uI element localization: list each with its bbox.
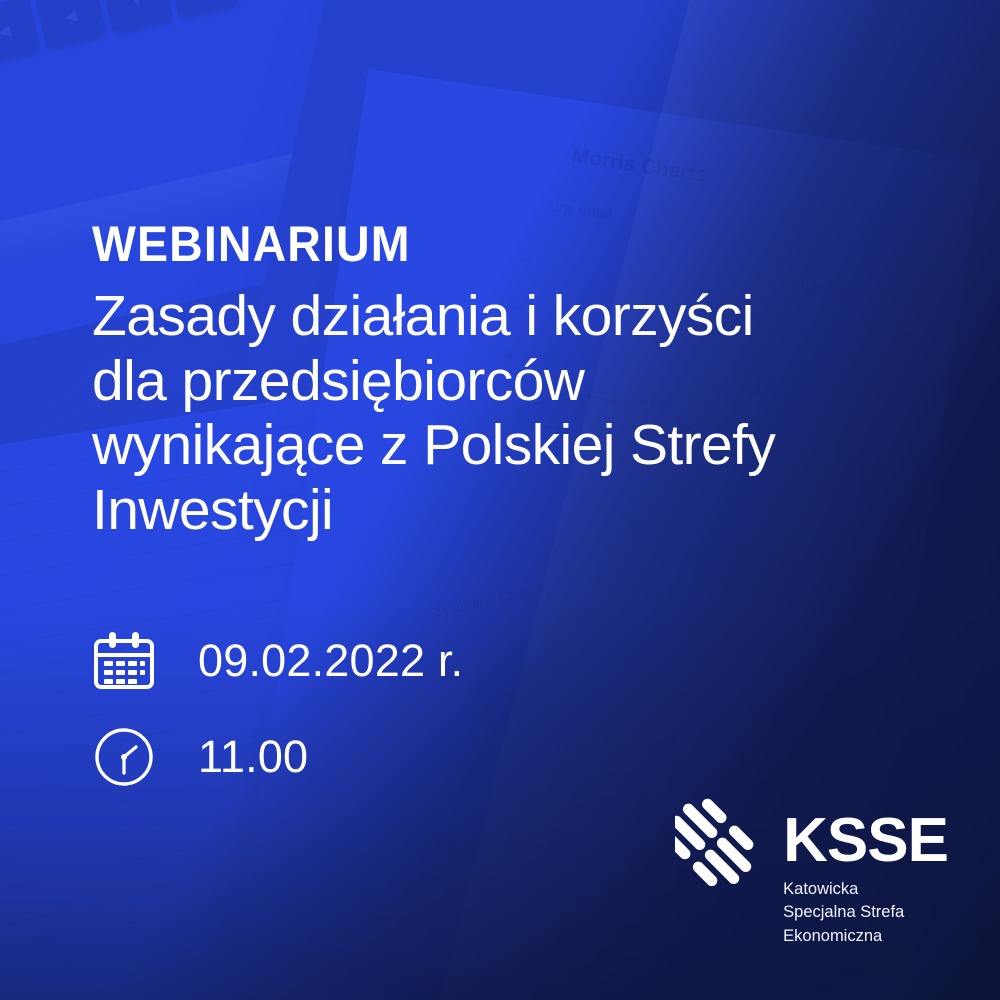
ksse-wordmark: KSSE	[783, 812, 948, 869]
calendar-icon	[92, 629, 170, 693]
event-time-value: 11.00	[198, 731, 308, 783]
webinar-poster: ◀ ▼ ▲ ▶ ◀ Morris Charts Line Chart 40 30…	[0, 0, 1000, 1000]
ksse-tagline-line-3: Ekonomiczna	[783, 925, 948, 948]
event-time-row: 11.00	[92, 716, 463, 798]
event-date-row: 09.02.2022 r.	[92, 620, 463, 702]
clock-icon	[92, 725, 170, 789]
event-date-value: 09.02.2022 r.	[198, 635, 463, 687]
headline-line-2: dla przedsiębiorców	[92, 349, 882, 414]
headline-line-4: Inwestycji	[92, 478, 882, 543]
ksse-tagline-line-1: Katowicka	[783, 878, 948, 901]
kicker-webinarium: WEBINARIUM	[92, 219, 411, 269]
page-title: Zasady działania i korzyści dla przedsię…	[92, 284, 882, 543]
ksse-logo: KSSE Katowicka Specjalna Strefa Ekonomic…	[675, 786, 948, 948]
ksse-logotype: KSSE Katowicka Specjalna Strefa Ekonomic…	[783, 786, 948, 948]
ksse-diagonal-bars-mark-icon	[675, 786, 767, 896]
event-meta: 09.02.2022 r. 11.00	[92, 620, 463, 798]
ksse-tagline: Katowicka Specjalna Strefa Ekonomiczna	[783, 878, 948, 948]
headline-line-1: Zasady działania i korzyści	[92, 284, 882, 349]
headline-line-3: wynikające z Polskiej Strefy	[92, 413, 882, 478]
poster-content: WEBINARIUM Zasady działania i korzyści d…	[0, 0, 1000, 1000]
ksse-tagline-line-2: Specjalna Strefa	[783, 901, 948, 924]
